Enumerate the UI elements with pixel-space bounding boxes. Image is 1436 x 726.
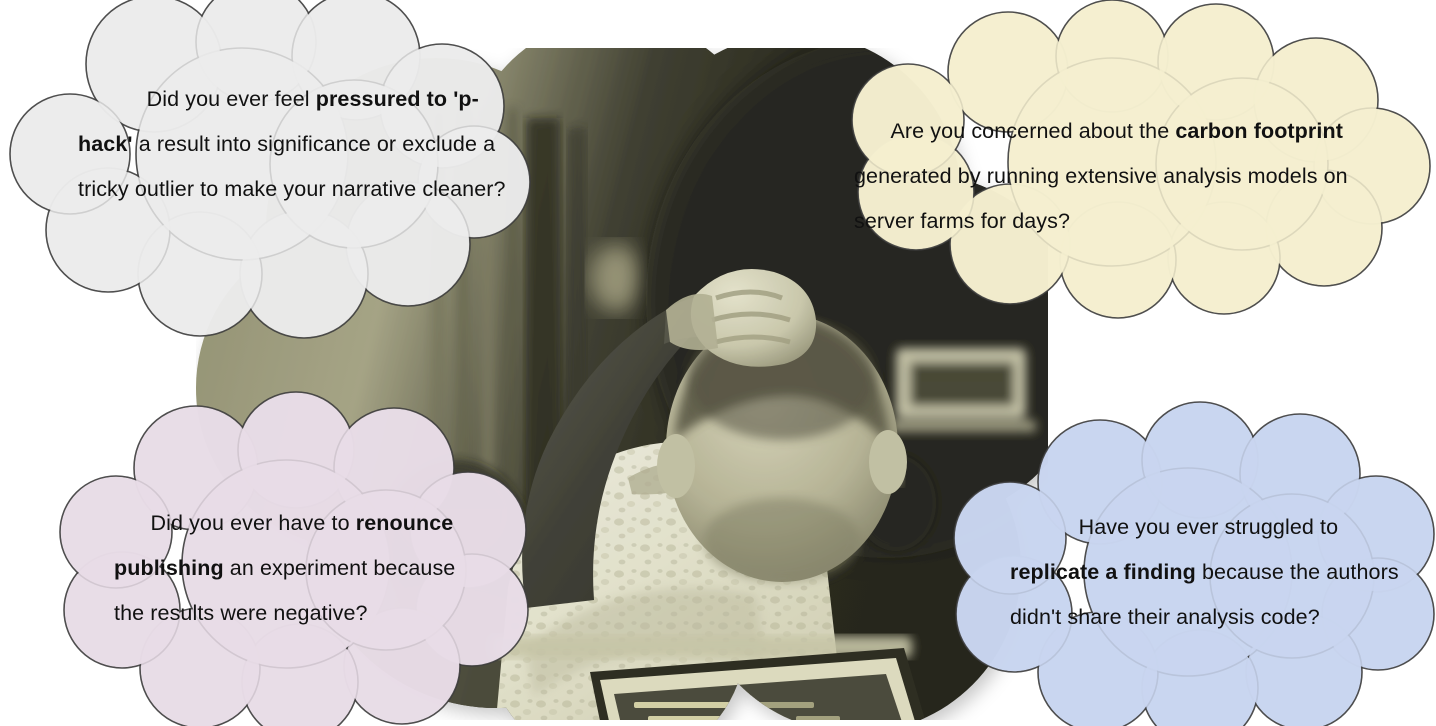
thought-cloud-p-hack-text: Did you ever feel pressured to 'p-hack' … — [78, 32, 508, 257]
replicate-seg-0: Have you ever struggled to — [1066, 515, 1344, 539]
replicate-seg-1: replicate a finding — [1010, 560, 1196, 584]
thought-cloud-replicate-text: Have you ever struggled to replicate a f… — [1010, 460, 1400, 685]
thought-cloud-renounce-text: Did you ever have to renounce publishing… — [114, 456, 464, 681]
thought-cloud-renounce: Did you ever have to renounce publishing… — [56, 404, 532, 722]
phack-seg-0: Did you ever feel — [134, 87, 315, 111]
renounce-seg-0: Did you ever have to — [150, 511, 355, 535]
thought-cloud-replicate: Have you ever struggled to replicate a f… — [948, 416, 1436, 726]
thought-cloud-p-hack: Did you ever feel pressured to 'p-hack' … — [4, 0, 544, 324]
phack-seg-2: a result into significance or exclude a … — [78, 132, 506, 201]
carbon-seg-1: carbon footprint — [1175, 119, 1343, 143]
thought-cloud-carbon-text: Are you concerned about the carbon footp… — [854, 64, 1354, 289]
thought-cloud-carbon: Are you concerned about the carbon footp… — [812, 16, 1436, 308]
poster-canvas: Did you ever feel pressured to 'p-hack' … — [0, 0, 1436, 726]
carbon-seg-0: Are you concerned about the — [890, 119, 1175, 143]
